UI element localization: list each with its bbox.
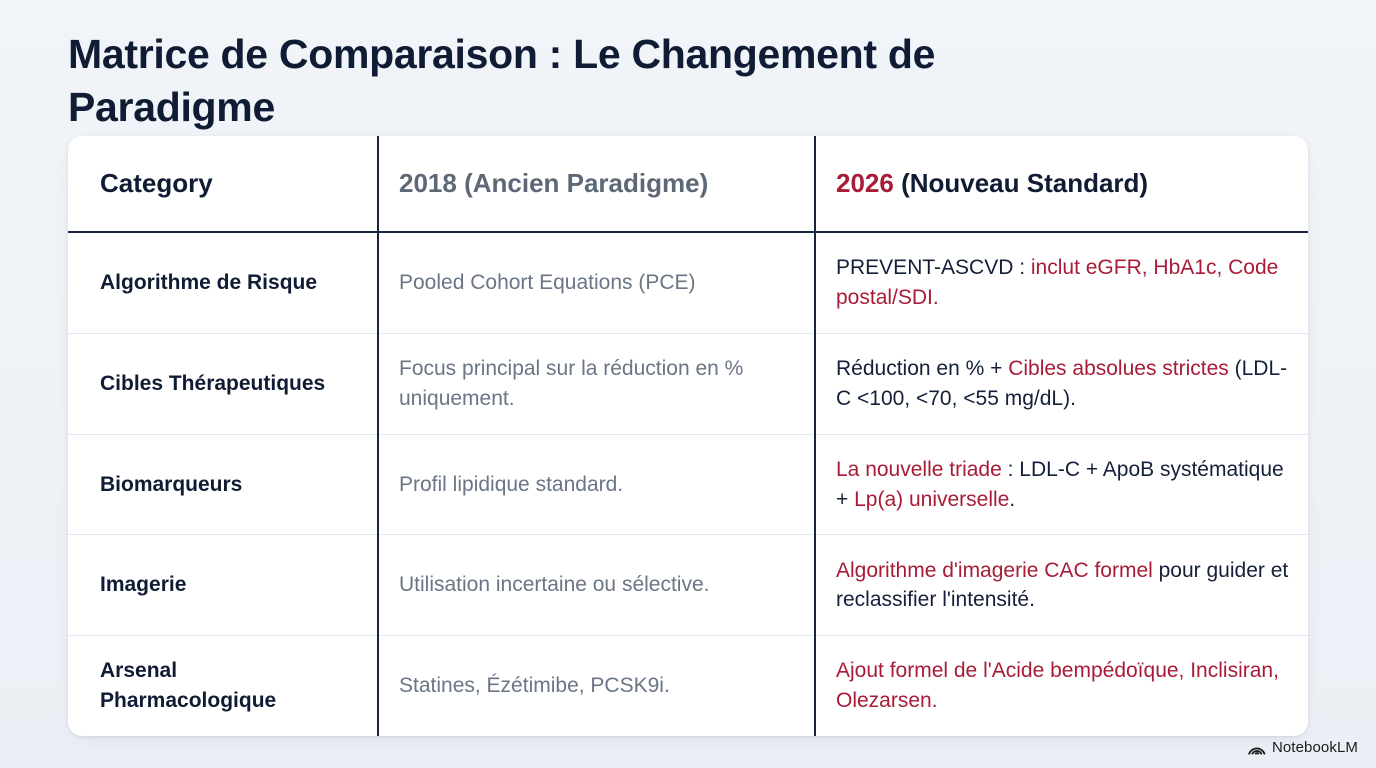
cell-category: Biomarqueurs [68,434,378,535]
cell-2018: Statines, Ézétimibe, PCSK9i. [378,636,815,736]
notebooklm-brand-label: NotebookLM [1272,739,1358,756]
cell-2026: Ajout formel de l'Acide bempédoïque, Inc… [815,636,1308,736]
plain-text: . [1009,488,1015,511]
table-row: Cibles ThérapeutiquesFocus principal sur… [68,333,1308,434]
notebooklm-watermark: NotebookLM [1248,739,1358,756]
highlight-text: Ajout formel de l'Acide bempédoïque, Inc… [836,659,1279,712]
cell-2026: La nouvelle triade : LDL-C + ApoB systém… [815,434,1308,535]
plain-text: Réduction en % + [836,357,1008,380]
cell-2018: Utilisation incertaine ou sélective. [378,535,815,636]
cell-2018: Focus principal sur la réduction en % un… [378,333,815,434]
table-header: Category 2018 (Ancien Paradigme) 2026 (N… [68,136,1308,232]
column-header-category: Category [68,136,378,232]
cell-category: Arsenal Pharmacologique [68,636,378,736]
comparison-matrix-card: Category 2018 (Ancien Paradigme) 2026 (N… [68,136,1308,736]
cell-2018: Profil lipidique standard. [378,434,815,535]
table-row: ImagerieUtilisation incertaine ou sélect… [68,535,1308,636]
column-header-2026-rest: (Nouveau Standard) [894,168,1148,198]
cell-category: Imagerie [68,535,378,636]
header-row: Category 2018 (Ancien Paradigme) 2026 (N… [68,136,1308,232]
table-row: BiomarqueursProfil lipidique standard.La… [68,434,1308,535]
cell-2026: Algorithme d'imagerie CAC formel pour gu… [815,535,1308,636]
table-body: Algorithme de RisquePooled Cohort Equati… [68,232,1308,736]
highlight-text: La nouvelle triade [836,458,1002,481]
cell-2026: Réduction en % + Cibles absolues stricte… [815,333,1308,434]
page-title: Matrice de Comparaison : Le Changement d… [68,28,1118,135]
highlight-text: Lp(a) universelle [854,488,1009,511]
table-row: Arsenal PharmacologiqueStatines, Ézétimi… [68,636,1308,736]
notebooklm-spiral-icon [1248,740,1266,755]
column-header-2026: 2026 (Nouveau Standard) [815,136,1308,232]
highlight-text: Algorithme d'imagerie CAC formel [836,559,1153,582]
plain-text: PREVENT-ASCVD : [836,256,1031,279]
column-header-2018: 2018 (Ancien Paradigme) [378,136,815,232]
column-header-2026-year: 2026 [836,168,894,198]
table-row: Algorithme de RisquePooled Cohort Equati… [68,232,1308,333]
cell-category: Cibles Thérapeutiques [68,333,378,434]
highlight-text: Cibles absolues strictes [1008,357,1229,380]
slide-canvas: Matrice de Comparaison : Le Changement d… [0,0,1376,768]
cell-2018: Pooled Cohort Equations (PCE) [378,232,815,333]
comparison-table: Category 2018 (Ancien Paradigme) 2026 (N… [68,136,1308,736]
cell-2026: PREVENT-ASCVD : inclut eGFR, HbA1c, Code… [815,232,1308,333]
cell-category: Algorithme de Risque [68,232,378,333]
